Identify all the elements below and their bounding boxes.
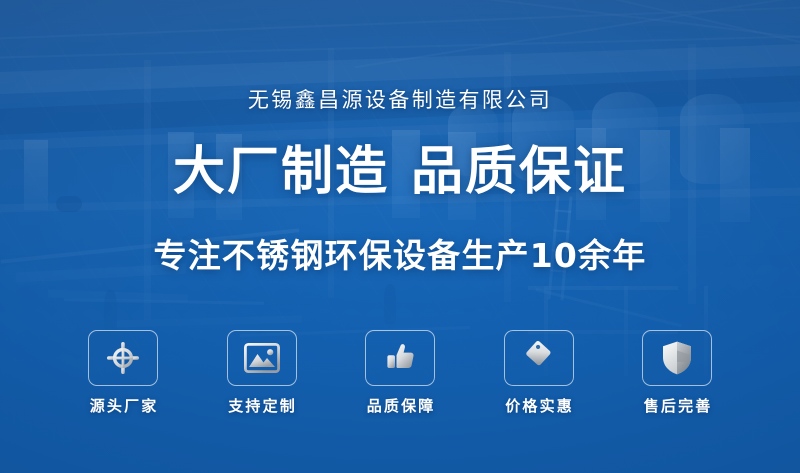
feature-item-source-factory[interactable]: 源头厂家 [60, 330, 186, 414]
feature-label: 价格实惠 [503, 399, 574, 414]
feature-item-customization[interactable]: 支持定制 [199, 330, 325, 414]
feature-icon-box [88, 330, 158, 386]
crosshair-target-icon [106, 341, 140, 375]
feature-icon-box [504, 330, 574, 386]
sub-headline: 专注不锈钢环保设备生产10余年 [0, 238, 800, 274]
thumbs-up-icon [383, 341, 417, 375]
page-title: 大厂制造品质保证 [0, 143, 800, 201]
feature-label: 品质保障 [365, 399, 436, 414]
feature-icon-box [642, 330, 712, 386]
headline-part-2: 品质保证 [411, 142, 627, 202]
promo-banner: 无锡鑫昌源设备制造有限公司 大厂制造品质保证 专注不锈钢环保设备生产10余年 [0, 0, 800, 473]
feature-icon-box [227, 330, 297, 386]
feature-list: 源头厂家 [60, 330, 740, 414]
headline-part-1: 大厂制造 [173, 142, 389, 202]
company-name: 无锡鑫昌源设备制造有限公司 [0, 90, 800, 111]
image-picture-icon [244, 343, 280, 373]
feature-icon-box [365, 330, 435, 386]
feature-label: 售后完善 [642, 399, 713, 414]
feature-label: 源头厂家 [88, 399, 159, 414]
feature-item-quality[interactable]: 品质保障 [337, 330, 463, 414]
shield-icon [661, 340, 693, 376]
feature-item-price[interactable]: 价格实惠 [476, 330, 602, 414]
feature-item-after-sales[interactable]: 售后完善 [614, 330, 740, 414]
price-tag-icon [522, 341, 556, 375]
feature-label: 支持定制 [226, 399, 297, 414]
